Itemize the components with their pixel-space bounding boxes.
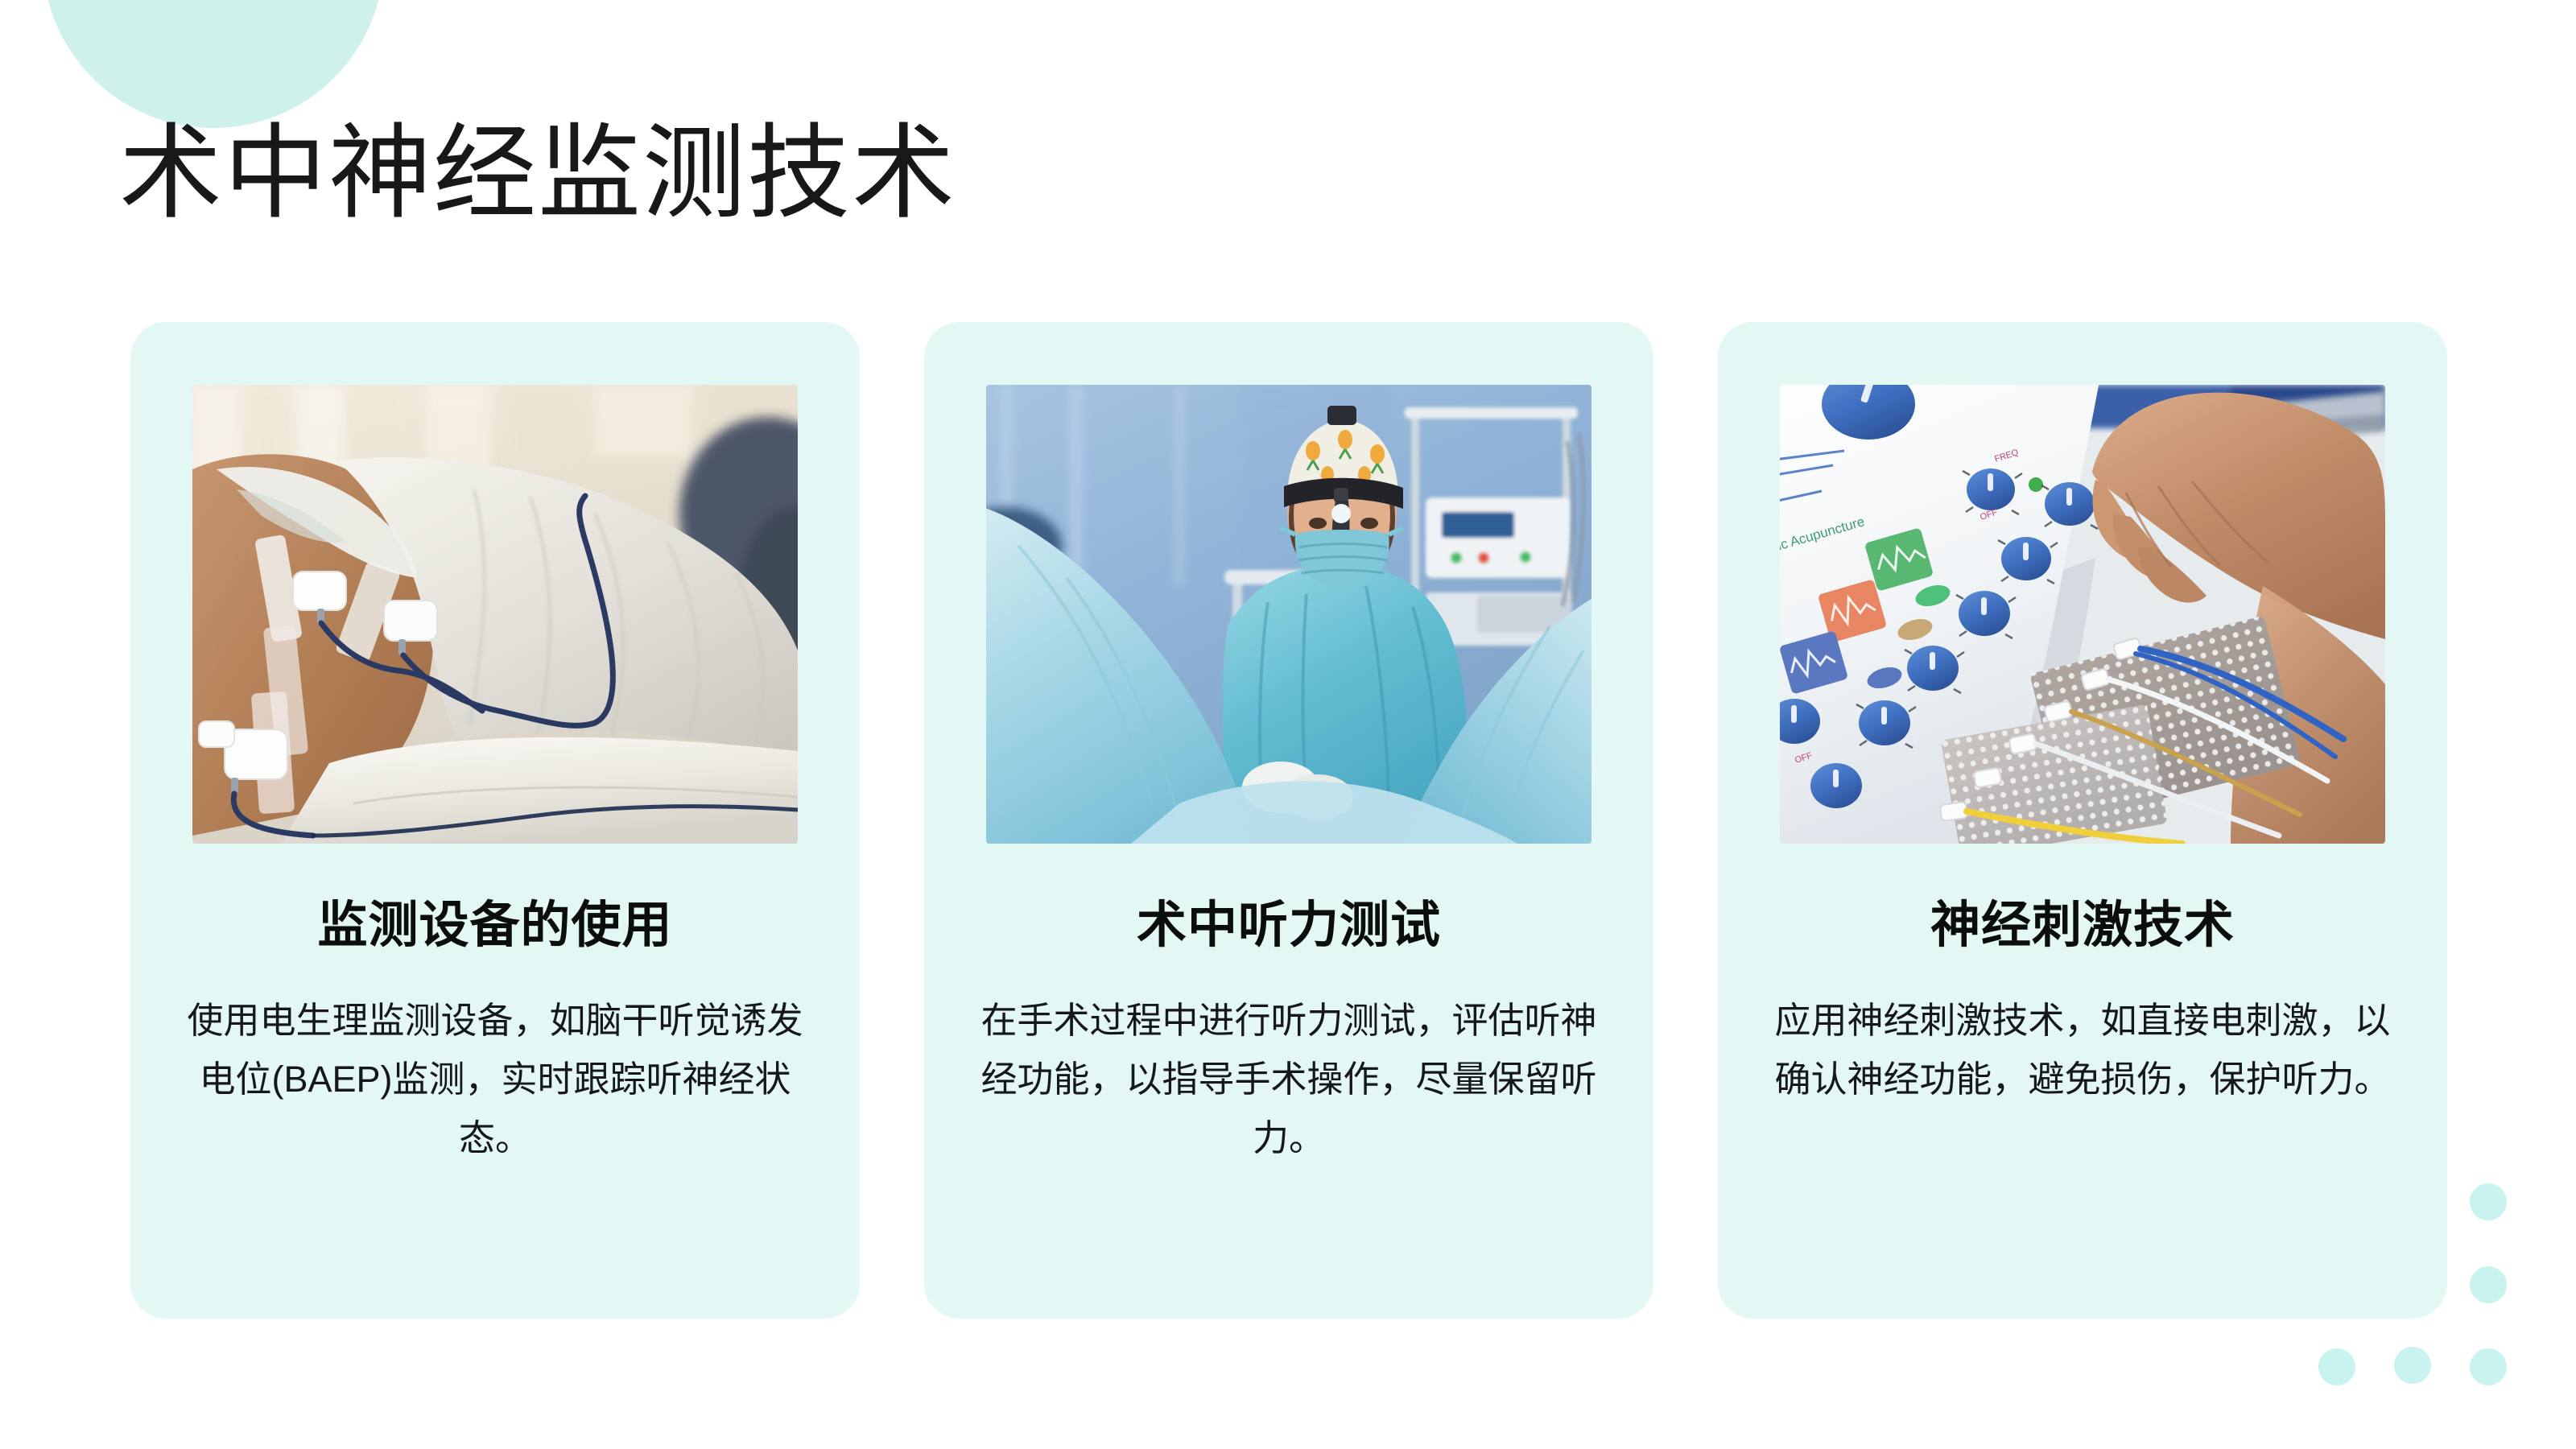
card-body-text: 在手术过程中进行听力测试，评估听神经功能，以指导手术操作，尽量保留听力。 <box>971 992 1607 1168</box>
stimulator-device-photo: nic Acupuncture <box>1780 385 2385 844</box>
card-row: 监测设备的使用 使用电生理监测设备，如脑干听觉诱发电位(BAEP)监测，实时跟踪… <box>130 322 2447 1319</box>
card-body-text: 使用电生理监测设备，如脑干听觉诱发电位(BAEP)监测，实时跟踪听神经状态。 <box>177 992 813 1168</box>
top-left-circle-decoration <box>43 0 384 128</box>
card-title: 神经刺激技术 <box>1930 898 2235 953</box>
card-title: 术中听力测试 <box>1137 898 1441 953</box>
patient-electrodes-photo <box>192 385 798 844</box>
card-body-text: 应用神经刺激技术，如直接电刺激，以确认神经功能，避免损伤，保护听力。 <box>1765 992 2401 1109</box>
dot-grid-decoration <box>2318 1183 2552 1425</box>
decorative-dot <box>2318 1348 2355 1385</box>
card-title: 监测设备的使用 <box>317 898 672 953</box>
page-title: 术中神经监测技术 <box>119 113 956 234</box>
surgeon-operating-photo <box>986 385 1591 844</box>
decorative-dot <box>2394 1347 2431 1384</box>
decorative-dot <box>2470 1183 2507 1220</box>
card-monitoring-equipment[interactable]: 监测设备的使用 使用电生理监测设备，如脑干听觉诱发电位(BAEP)监测，实时跟踪… <box>130 322 860 1319</box>
decorative-dot <box>2470 1348 2507 1385</box>
decorative-dot <box>2470 1266 2507 1303</box>
card-nerve-stimulation[interactable]: nic Acupuncture <box>1718 322 2447 1319</box>
card-hearing-test[interactable]: 术中听力测试 在手术过程中进行听力测试，评估听神经功能，以指导手术操作，尽量保留… <box>924 322 1653 1319</box>
